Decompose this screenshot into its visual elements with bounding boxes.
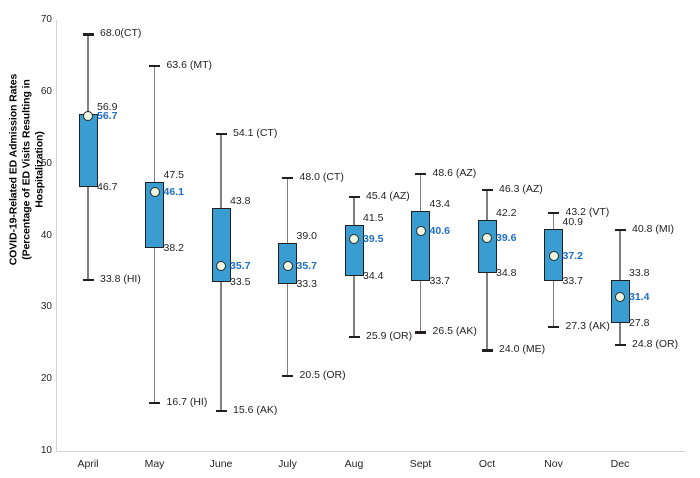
lower-whisker [619, 323, 621, 345]
p25-value-label: 27.8 [629, 317, 649, 329]
y-tick-40: 40 [22, 230, 52, 242]
lower-whisker [420, 281, 422, 333]
x-tick-label-aug: Aug [319, 458, 389, 470]
y-tick-label: 20 [28, 373, 52, 384]
max-cap [415, 173, 426, 175]
p75-value-label: 43.8 [230, 195, 250, 207]
max-cap [548, 212, 559, 214]
min-cap [83, 279, 94, 281]
x-tick-label-nov: Nov [519, 458, 589, 470]
min-cap [216, 410, 227, 412]
box-plot-chart: COVID-19-Related ED Admission Rates (Per… [0, 0, 700, 478]
x-tick-label-oct: Oct [452, 458, 522, 470]
p25-value-label: 38.2 [164, 242, 184, 254]
lower-whisker [87, 187, 89, 280]
p25-value-label: 33.5 [230, 276, 250, 288]
y-tick-label: 50 [28, 158, 52, 169]
max-cap [482, 189, 493, 191]
pooled-states-dot [549, 251, 559, 261]
min-cap [415, 331, 426, 333]
y-tick-10: 10 [22, 445, 52, 457]
min-cap [282, 375, 293, 377]
y-axis-title-line-1: COVID-19-Related ED Admission Rates [8, 74, 20, 266]
x-tick-label-june: June [186, 458, 256, 470]
p25-value-label: 34.8 [496, 267, 516, 279]
min-cap [615, 344, 626, 346]
max-value-label: 40.8 (MI) [632, 223, 674, 235]
y-tick-label: 60 [28, 86, 52, 97]
y-tick-label: 40 [28, 230, 52, 241]
upper-whisker [287, 178, 289, 243]
pooled-value-label: 39.6 [496, 232, 516, 244]
p75-value-label: 47.5 [164, 169, 184, 181]
x-tick-label-july: July [253, 458, 323, 470]
upper-whisker [154, 66, 156, 182]
pooled-value-label: 31.4 [629, 291, 649, 303]
lower-whisker [287, 284, 289, 376]
p75-value-label: 39.0 [297, 230, 317, 242]
p25-value-label: 33.7 [563, 275, 583, 287]
iqr-box [79, 114, 98, 187]
p25-value-label: 34.4 [363, 270, 383, 282]
y-tick-50: 50 [22, 158, 52, 170]
iqr-box [411, 211, 430, 281]
pooled-states-dot [150, 187, 160, 197]
y-tick-60: 60 [22, 86, 52, 98]
p75-value-label: 33.8 [629, 267, 649, 279]
max-cap [83, 33, 94, 35]
min-cap [349, 336, 360, 338]
upper-whisker [353, 197, 355, 225]
x-tick-label-april: April [53, 458, 123, 470]
lower-whisker [154, 248, 156, 402]
pooled-states-dot [83, 111, 93, 121]
pooled-value-label: 35.7 [297, 260, 317, 272]
max-cap [349, 196, 360, 198]
min-cap [548, 326, 559, 328]
max-value-label: 63.6 (MT) [167, 59, 213, 71]
upper-whisker [486, 190, 488, 219]
pooled-value-label: 39.5 [363, 233, 383, 245]
y-tick-30: 30 [22, 301, 52, 313]
min-value-label: 24.8 (OR) [632, 338, 678, 350]
upper-whisker [420, 174, 422, 211]
x-axis-line [56, 451, 685, 452]
max-value-label: 45.4 (AZ) [366, 190, 410, 202]
min-value-label: 15.6 (AK) [233, 404, 277, 416]
min-cap [149, 402, 160, 404]
chart-legend: Maximum State rate 75th percentile Poole… [570, 0, 700, 130]
p25-value-label: 33.7 [430, 275, 450, 287]
max-value-label: 68.0(CT) [100, 27, 141, 39]
min-value-label: 25.9 (OR) [366, 330, 412, 342]
upper-whisker [87, 34, 89, 114]
y-tick-label: 30 [28, 301, 52, 312]
pooled-value-label: 40.6 [430, 225, 450, 237]
lower-whisker [353, 276, 355, 337]
y-tick-20: 20 [22, 373, 52, 385]
min-cap [482, 349, 493, 351]
pooled-states-dot [416, 226, 426, 236]
p75-value-label: 43.4 [430, 198, 450, 210]
min-value-label: 27.3 (AK) [566, 320, 610, 332]
p25-value-label: 33.3 [297, 278, 317, 290]
p75-value-label: 41.5 [363, 212, 383, 224]
max-value-label: 46.3 (AZ) [499, 183, 543, 195]
lower-whisker [220, 282, 222, 411]
min-value-label: 33.8 (HI) [100, 273, 141, 285]
max-value-label: 54.1 (CT) [233, 127, 277, 139]
max-value-label: 48.0 (CT) [300, 171, 344, 183]
p75-value-label: 40.9 [563, 216, 583, 228]
max-cap [149, 65, 160, 67]
min-value-label: 20.5 (OR) [300, 369, 346, 381]
y-tick-70: 70 [22, 14, 52, 26]
iqr-box [212, 208, 231, 282]
pooled-value-label: 56.7 [97, 110, 117, 122]
x-tick-label-sept: Sept [386, 458, 456, 470]
y-tick-label: 70 [28, 14, 52, 25]
iqr-box [345, 225, 364, 276]
pooled-value-label: 35.7 [230, 260, 250, 272]
max-cap [615, 229, 626, 231]
x-tick-label-may: May [120, 458, 190, 470]
y-axis-line [56, 20, 57, 451]
min-value-label: 16.7 (HI) [167, 396, 208, 408]
pooled-value-label: 37.2 [563, 250, 583, 262]
upper-whisker [553, 213, 555, 230]
upper-whisker [619, 230, 621, 280]
max-cap [216, 133, 227, 135]
x-tick-label-dec: Dec [585, 458, 655, 470]
upper-whisker [220, 134, 222, 208]
max-value-label: 48.6 (AZ) [433, 167, 477, 179]
p25-value-label: 46.7 [97, 181, 117, 193]
iqr-box [478, 220, 497, 273]
lower-whisker [486, 273, 488, 351]
max-cap [282, 177, 293, 179]
min-value-label: 24.0 (ME) [499, 343, 545, 355]
pooled-states-dot [283, 261, 293, 271]
min-value-label: 26.5 (AK) [433, 325, 477, 337]
pooled-value-label: 46.1 [164, 186, 184, 198]
y-tick-label: 10 [28, 445, 52, 456]
lower-whisker [553, 281, 555, 327]
p75-value-label: 42.2 [496, 207, 516, 219]
